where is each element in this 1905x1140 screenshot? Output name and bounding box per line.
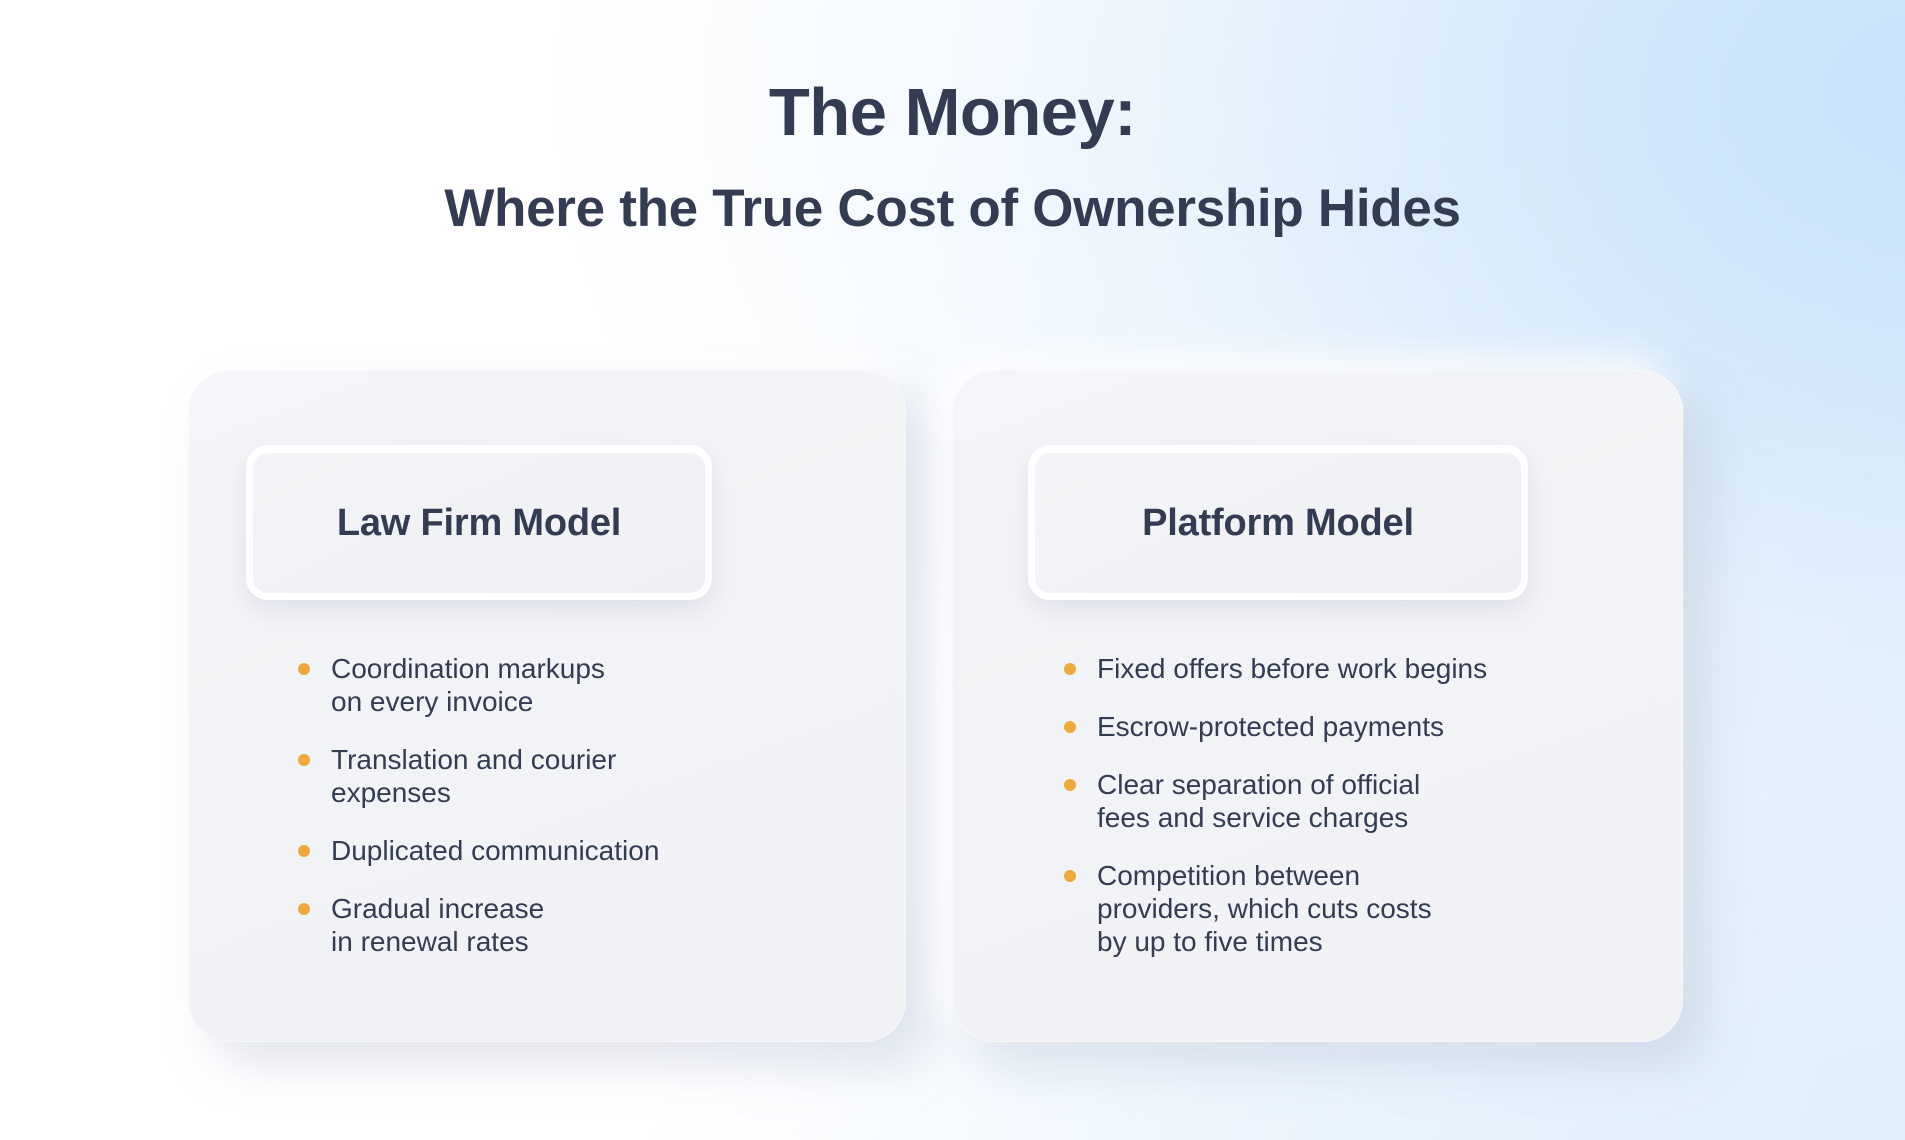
card-header-label: Law Firm Model [337, 504, 621, 542]
list-item: Translation and courier expenses [296, 743, 876, 809]
page-title: The Money: [0, 78, 1905, 148]
list-item: Clear separation of official fees and se… [1062, 768, 1662, 834]
card-law-firm-model: Law Firm Model Coordination markups on e… [188, 370, 906, 1042]
list-item: Coordination markups on every invoice [296, 652, 876, 718]
list-item: Escrow-protected payments [1062, 710, 1662, 743]
list-item: Fixed offers before work begins [1062, 652, 1662, 685]
bullet-list-law-firm: Coordination markups on every invoice Tr… [296, 652, 876, 958]
card-platform-model: Platform Model Fixed offers before work … [952, 370, 1683, 1042]
card-header-label: Platform Model [1142, 504, 1414, 542]
heading-block: The Money: Where the True Cost of Owners… [0, 78, 1905, 239]
page-subtitle: Where the True Cost of Ownership Hides [0, 180, 1905, 238]
list-item: Gradual increase in renewal rates [296, 892, 876, 958]
slide-canvas: The Money: Where the True Cost of Owners… [0, 0, 1905, 1140]
card-header-pill-platform: Platform Model [1028, 445, 1528, 600]
list-item: Duplicated communication [296, 834, 876, 867]
card-header-pill-law-firm: Law Firm Model [246, 445, 712, 600]
list-item: Competition between providers, which cut… [1062, 859, 1662, 958]
bullet-list-platform: Fixed offers before work begins Escrow-p… [1062, 652, 1662, 958]
